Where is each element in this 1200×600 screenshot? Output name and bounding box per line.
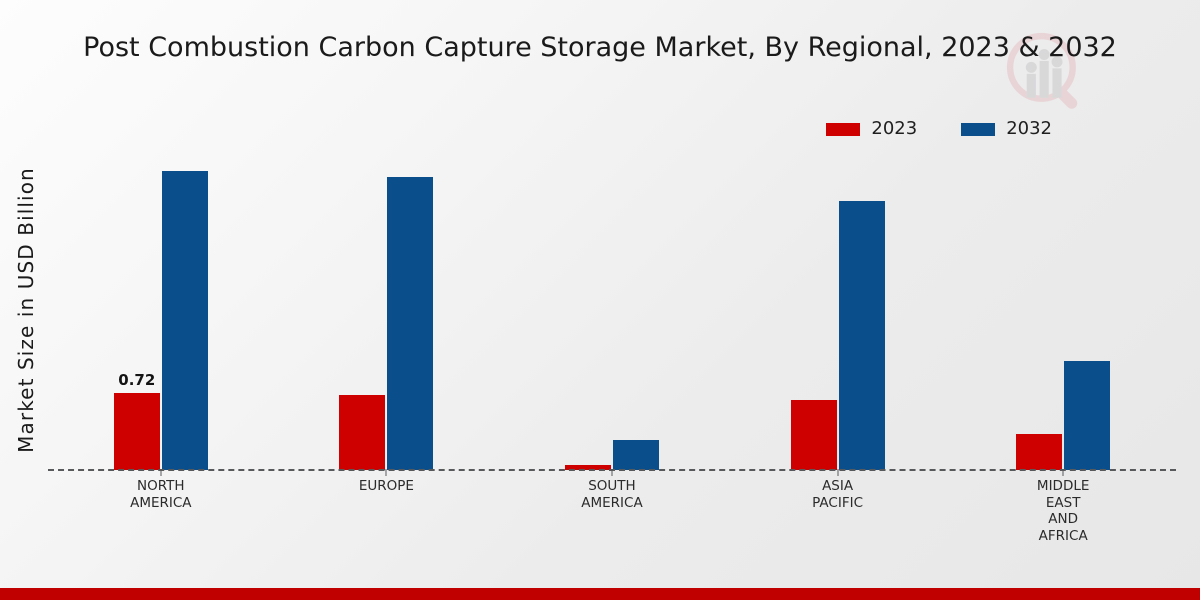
x-axis-label-line: NORTH [48,478,274,495]
bar-group [499,150,725,470]
bar-pair [565,440,659,470]
legend-swatch-2023-icon [826,123,860,136]
legend-item-2023[interactable]: 2023 [826,120,917,138]
bar-2032[interactable] [387,177,433,470]
x-axis-label-line: PACIFIC [725,495,951,512]
bar-group [725,150,951,470]
y-axis-title: Market Size in USD Billion [14,130,38,490]
x-axis-label: NORTHAMERICA [48,478,274,544]
legend-label-2032: 2032 [1006,120,1052,138]
legend-label-2023: 2023 [871,120,917,138]
bar-pair [339,177,433,470]
bar-pair [1016,361,1110,470]
bar-2032[interactable] [613,440,659,470]
bar-group [950,150,1176,470]
x-axis-label-line: AFRICA [950,528,1176,545]
x-axis-label: MIDDLEEASTANDAFRICA [950,478,1176,544]
legend-swatch-2032-icon [961,123,995,136]
bar-2032[interactable] [839,201,885,470]
x-axis-label: SOUTHAMERICA [499,478,725,544]
bar-value-label: 0.72 [118,371,155,389]
footer-accent-bar [0,588,1200,600]
x-axis-label-line: SOUTH [499,478,725,495]
x-axis-label-line: AND [950,511,1176,528]
bar-pair [114,171,208,470]
legend-item-2032[interactable]: 2032 [961,120,1052,138]
x-axis-label-line: EUROPE [274,478,500,495]
bar-2023[interactable] [114,393,160,470]
bar-2023[interactable] [791,400,837,470]
bar-groups: 0.72 [48,150,1176,470]
bar-2023[interactable] [339,395,385,470]
bar-pair [791,201,885,470]
x-axis-label-line: EAST [950,495,1176,512]
x-axis-label-line: ASIA [725,478,951,495]
x-axis-labels: NORTHAMERICAEUROPESOUTHAMERICAASIAPACIFI… [48,478,1176,544]
bar-2032[interactable] [162,171,208,470]
x-axis-label: ASIAPACIFIC [725,478,951,544]
x-axis-label-line: AMERICA [499,495,725,512]
chart-legend: 2023 2032 [826,120,1052,138]
chart-title: Post Combustion Carbon Capture Storage M… [0,32,1200,63]
bar-group [274,150,500,470]
x-axis-baseline [48,469,1176,471]
bar-2023[interactable] [1016,434,1062,470]
bar-group: 0.72 [48,150,274,470]
bar-2032[interactable] [1064,361,1110,470]
chart-canvas: Post Combustion Carbon Capture Storage M… [0,0,1200,600]
x-axis-label-line: MIDDLE [950,478,1176,495]
x-axis-label: EUROPE [274,478,500,544]
x-axis-label-line: AMERICA [48,495,274,512]
